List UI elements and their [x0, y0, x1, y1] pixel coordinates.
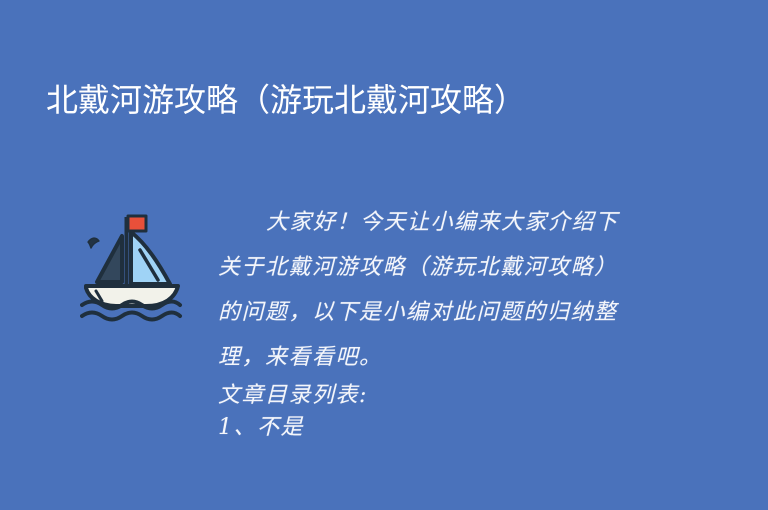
flag-shape	[128, 216, 146, 231]
article-body: 大家好！今天让小编来大家介绍下关于北戴河游攻略（游玩北戴河攻略）的问题，以下是小…	[218, 200, 638, 444]
sailboat-illustration	[80, 210, 184, 322]
toc-item-1[interactable]: 1、不是	[218, 412, 638, 444]
toc-heading: 文章目录列表:	[218, 380, 638, 412]
bird-icon	[88, 238, 99, 248]
intro-paragraph: 大家好！今天让小编来大家介绍下关于北戴河游攻略（游玩北戴河攻略）的问题，以下是小…	[218, 200, 638, 380]
jib-sail-shape	[97, 236, 122, 282]
page-title: 北戴河游攻略（游玩北戴河攻略）	[46, 77, 646, 124]
article-page: 北戴河游攻略（游玩北戴河攻略）	[0, 0, 768, 510]
main-sail-shape	[131, 232, 170, 284]
sailboat-icon	[80, 210, 184, 322]
